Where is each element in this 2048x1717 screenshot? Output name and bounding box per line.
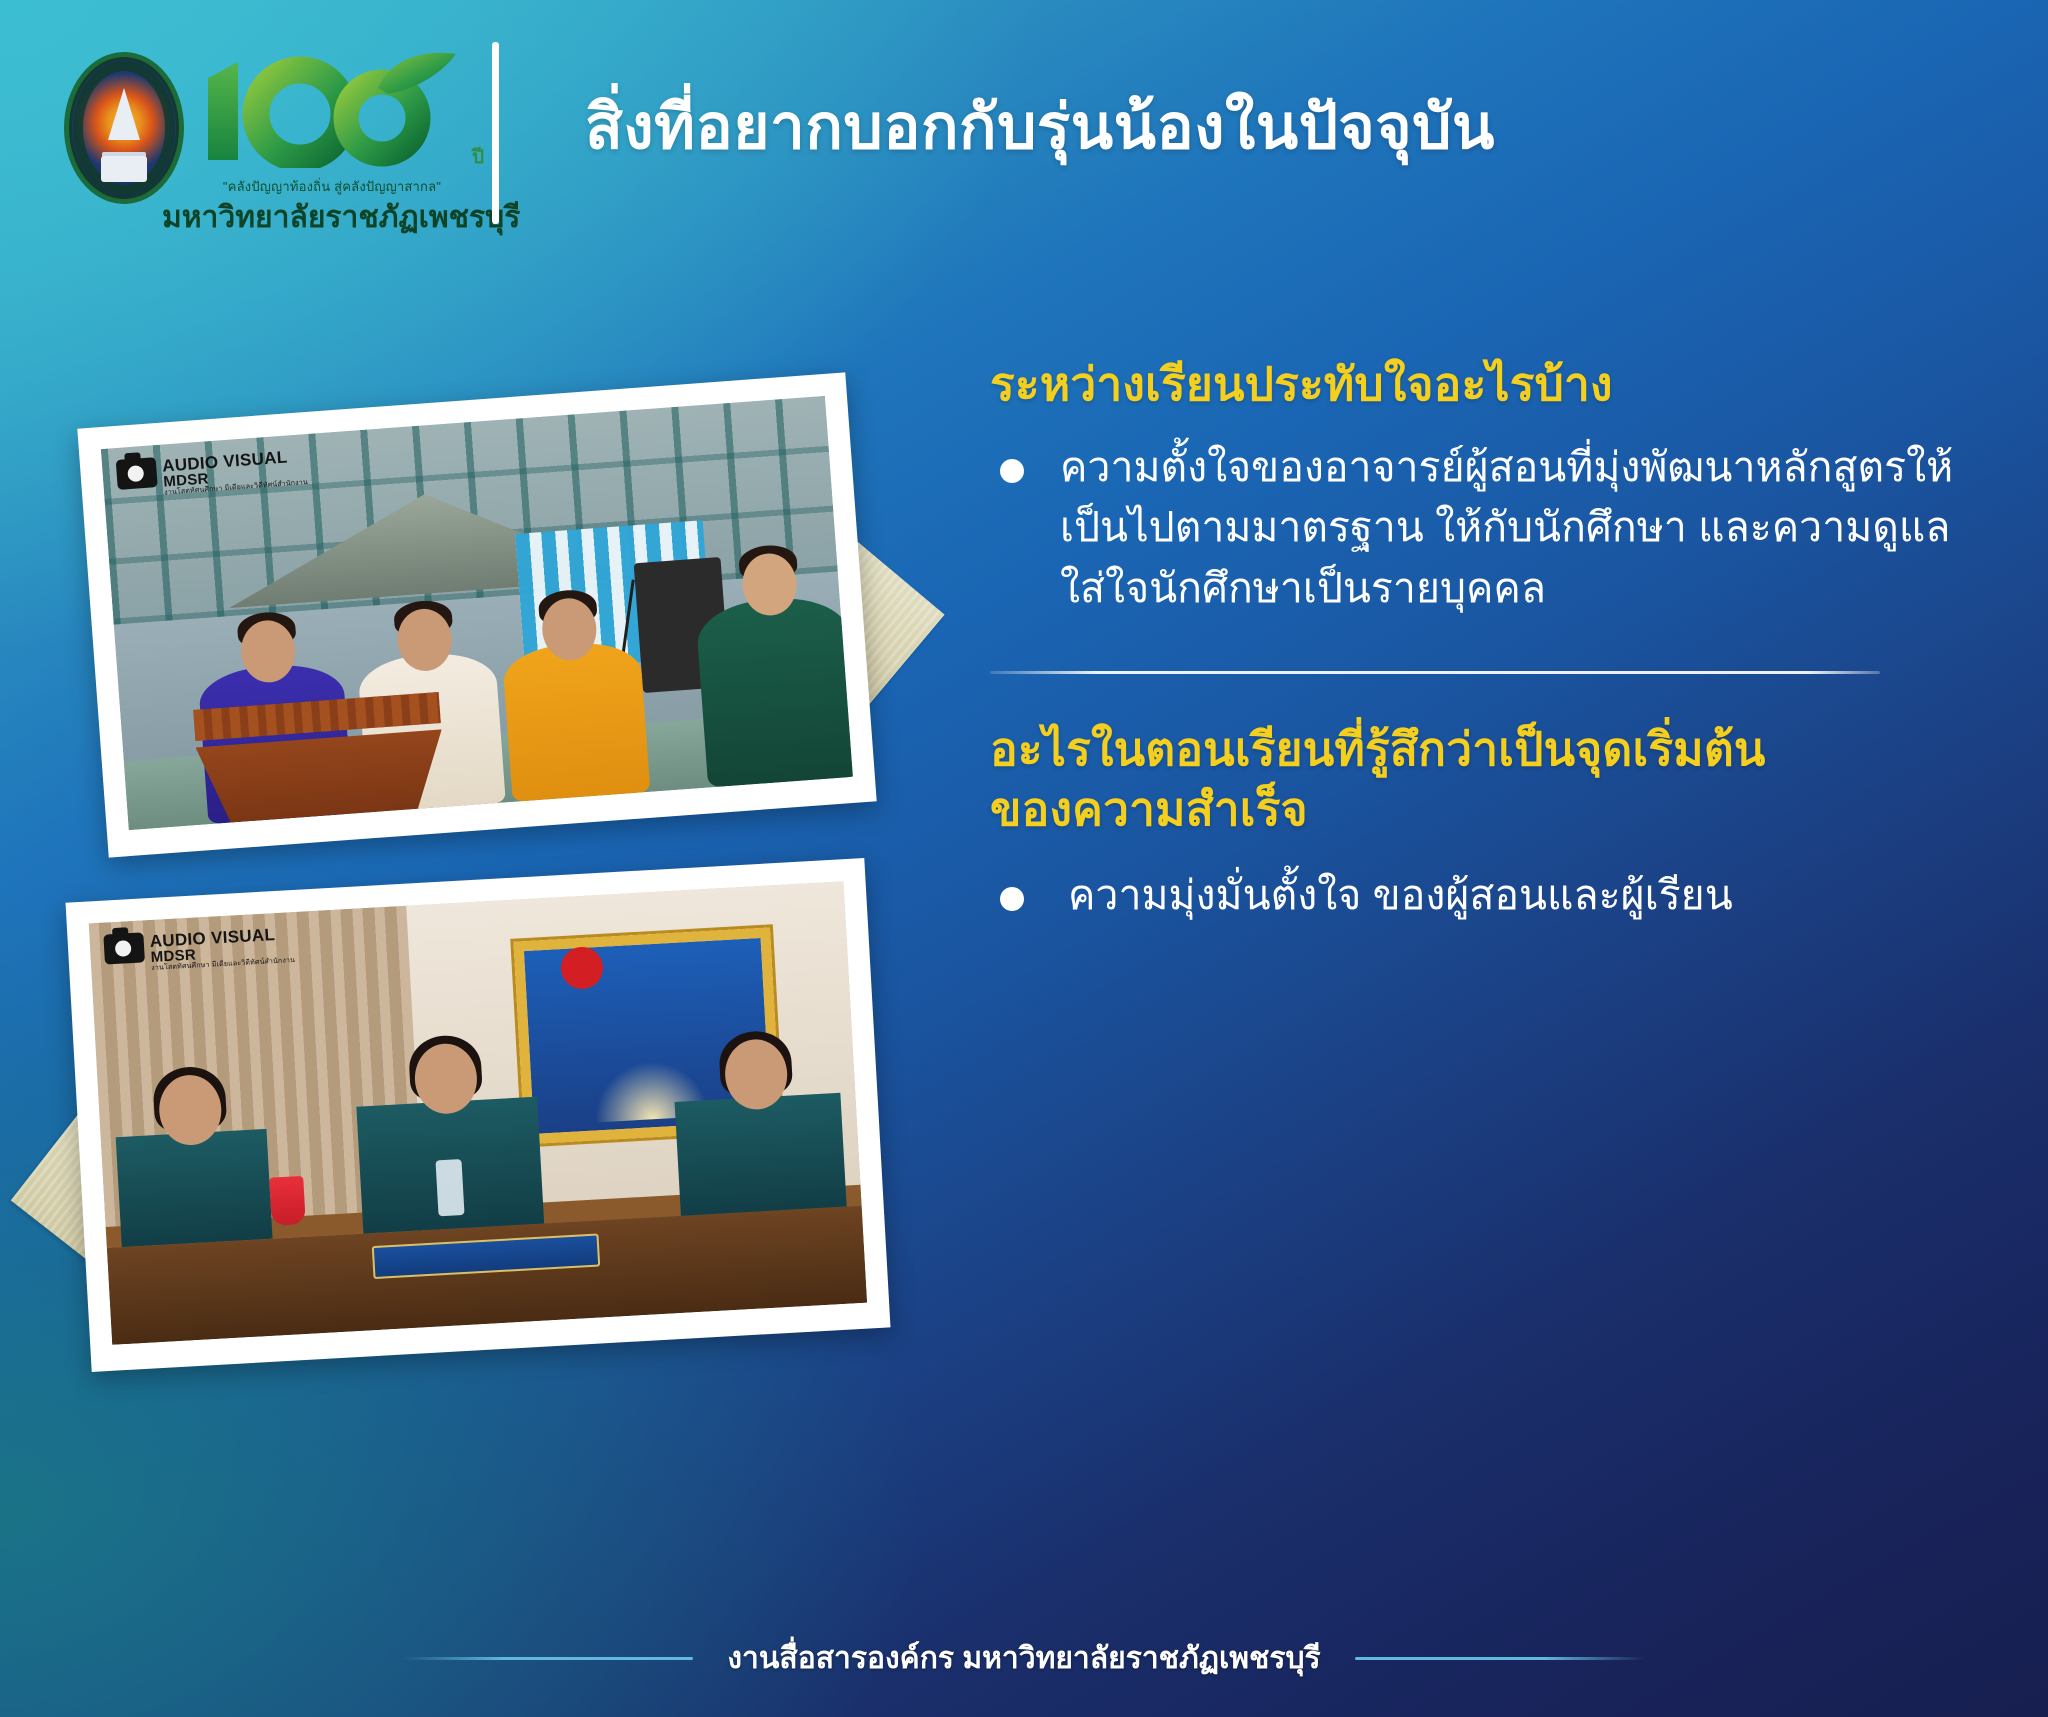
- question-heading-1: ระหว่างเรียนประทับใจอะไรบ้าง: [990, 355, 1990, 415]
- answer-list-1: ความตั้งใจของอาจารย์ผู้สอนที่มุ่งพัฒนาหล…: [990, 437, 1990, 619]
- list-item-text: ความตั้งใจของอาจารย์ผู้สอนที่มุ่งพัฒนาหล…: [1060, 444, 1953, 611]
- university-logo-lockup: ปี "คลังปัญญาท้องถิ่น สู่คลังปัญญาสากล" …: [52, 26, 482, 246]
- page-title: สิ่งที่อยากบอกกับรุ่นน้องในปัจจุบัน: [585, 78, 1495, 176]
- section-divider: [990, 671, 1880, 674]
- footer-line-left: [403, 1657, 693, 1660]
- photo-card-meeting-room: AUDIO VISUAL MDSR งานโสตทัศนศึกษา มีเดีย…: [66, 858, 891, 1372]
- person-figure: [674, 1093, 846, 1216]
- logo-university-name: มหาวิทยาลัยราชภัฏเพชรบุรี: [162, 194, 492, 241]
- person-figure: [501, 639, 650, 801]
- footer-credit: งานสื่อสารองค์กร มหาวิทยาลัยราชภัฏเพชรบุ…: [727, 1635, 1320, 1682]
- question-heading-2: อะไรในตอนเรียนที่รู้สึกว่าเป็นจุดเริ่มต้…: [990, 720, 1990, 840]
- scene-water-bottle: [435, 1159, 464, 1216]
- footer-line-right: [1355, 1657, 1645, 1660]
- footer-row: งานสื่อสารองค์กร มหาวิทยาลัยราชภัฏเพชรบุ…: [0, 1635, 2048, 1682]
- answer-list-2: ความมุ่งมั่นตั้งใจ ของผู้สอนและผู้เรียน: [990, 865, 1990, 926]
- watermark-text: AUDIO VISUAL MDSR งานโสตทัศนศึกษา มีเดีย…: [149, 924, 295, 972]
- question-heading-2-line1: อะไรในตอนเรียนที่รู้สึกว่าเป็นจุดเริ่มต้…: [990, 720, 1990, 780]
- photo-image-group-stage: AUDIO VISUAL MDSR งานโสตทัศนศึกษา มีเดีย…: [101, 396, 853, 830]
- scene-drink-glass: [270, 1176, 307, 1226]
- list-item: ความตั้งใจของอาจารย์ผู้สอนที่มุ่งพัฒนาหล…: [990, 437, 1990, 619]
- list-item: ความมุ่งมั่นตั้งใจ ของผู้สอนและผู้เรียน: [990, 865, 1990, 926]
- question-heading-2-line2: ของความสำเร็จ: [990, 780, 1990, 840]
- year-unit-label: ปี: [472, 142, 484, 172]
- camera-icon: [103, 932, 145, 964]
- 100-numeral-svg: [192, 48, 482, 168]
- seal-ring: [73, 61, 175, 195]
- content-column: ระหว่างเรียนประทับใจอะไรบ้าง ความตั้งใจข…: [990, 355, 1990, 926]
- photo-collage: AUDIO VISUAL MDSR งานโสตทัศนศึกษา มีเดีย…: [0, 250, 960, 1450]
- poster-canvas: ปี "คลังปัญญาท้องถิ่น สู่คลังปัญญาสากล" …: [0, 0, 2048, 1717]
- university-seal-icon: [64, 52, 184, 204]
- list-item-text: ความมุ่งมั่นตั้งใจ ของผู้สอนและผู้เรียน: [1068, 872, 1733, 918]
- header-vertical-divider: [492, 42, 499, 224]
- camera-icon: [116, 457, 158, 490]
- bullet-dot-icon: [1000, 887, 1024, 911]
- qa-block-2: อะไรในตอนเรียนที่รู้สึกว่าเป็นจุดเริ่มต้…: [990, 720, 1990, 926]
- photo-image-meeting-room: AUDIO VISUAL MDSR งานโสตทัศนศึกษา มีเดีย…: [89, 881, 867, 1345]
- photo-card-group-stage: AUDIO VISUAL MDSR งานโสตทัศนศึกษา มีเดีย…: [77, 372, 876, 857]
- centennial-100-logo-icon: ปี: [192, 48, 482, 168]
- person-figure: [695, 594, 853, 788]
- qa-block-1: ระหว่างเรียนประทับใจอะไรบ้าง ความตั้งใจข…: [990, 355, 1990, 619]
- footer-bar: งานสื่อสารองค์กร มหาวิทยาลัยราชภัฏเพชรบุ…: [0, 1597, 2048, 1717]
- person-figure: [116, 1129, 273, 1247]
- bullet-dot-icon: [1000, 459, 1024, 483]
- header-bar: ปี "คลังปัญญาท้องถิ่น สู่คลังปัญญาสากล" …: [0, 0, 2048, 262]
